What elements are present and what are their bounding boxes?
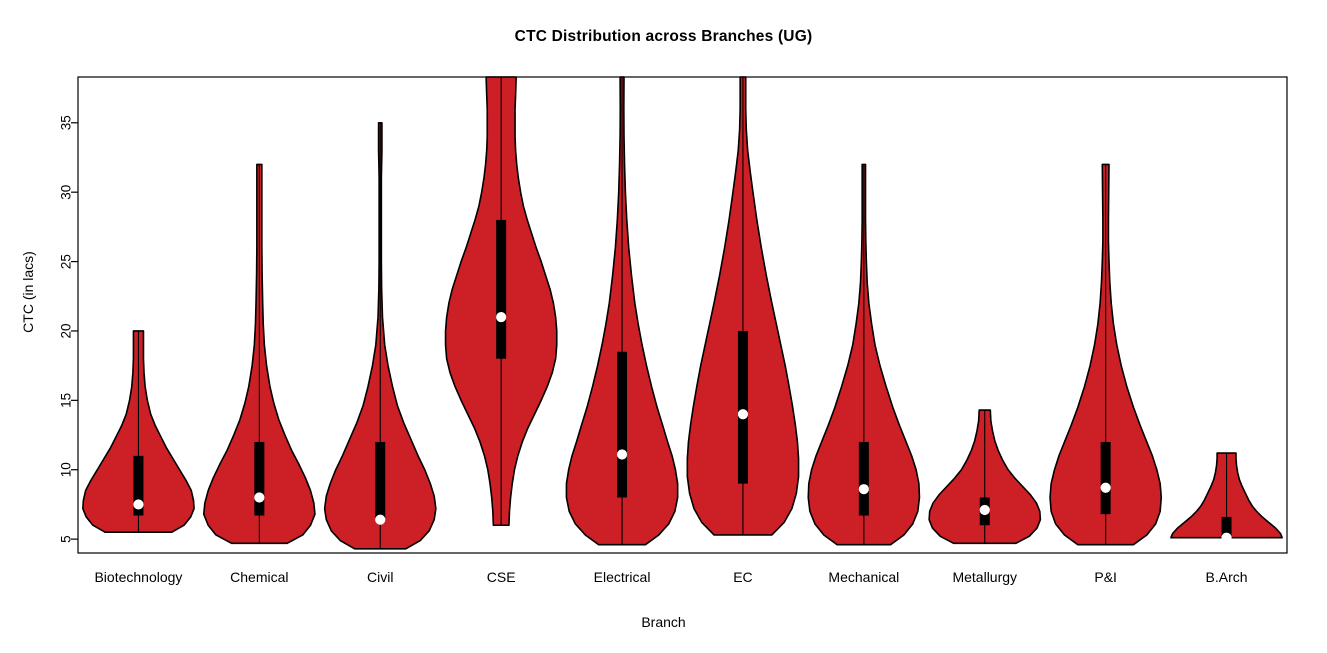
- violin-chart: CTC Distribution across Branches (UG) CT…: [0, 0, 1327, 653]
- violin-civil: [325, 123, 436, 549]
- x-tick-label-7: Mechanical: [828, 569, 899, 585]
- violin-ec: [687, 77, 798, 535]
- median-dot: [134, 500, 143, 509]
- violin-metallurgy: [929, 410, 1040, 543]
- x-tick-label-10: B.Arch: [1206, 569, 1248, 585]
- y-tick-label: 25: [59, 254, 74, 269]
- iqr-box: [617, 352, 627, 498]
- y-tick-label: 15: [59, 393, 74, 408]
- median-dot: [980, 505, 989, 514]
- median-dot: [255, 493, 264, 502]
- x-tick-label-1: Biotechnology: [94, 569, 182, 585]
- x-tick-label-3: Civil: [367, 569, 393, 585]
- x-tick-label-4: CSE: [487, 569, 516, 585]
- median-dot: [617, 450, 626, 459]
- y-tick-label: 20: [59, 323, 74, 338]
- iqr-box: [738, 331, 748, 484]
- median-dot: [738, 410, 747, 419]
- y-tick-label: 10: [59, 462, 74, 477]
- median-dot: [497, 312, 506, 321]
- x-tick-label-6: EC: [733, 569, 752, 585]
- iqr-box: [496, 220, 506, 359]
- violin-biotechnology: [83, 331, 194, 532]
- median-dot: [376, 515, 385, 524]
- median-dot: [859, 485, 868, 494]
- plot-area: 5101520253035BiotechnologyChemicalCivilC…: [0, 0, 1327, 653]
- median-dot: [1222, 533, 1231, 542]
- x-tick-label-9: P&I: [1094, 569, 1117, 585]
- y-tick-label: 5: [59, 535, 74, 543]
- violin-cse: [446, 77, 557, 525]
- violin-chemical: [204, 164, 315, 543]
- violin-electrical: [566, 77, 677, 545]
- median-dot: [1101, 483, 1110, 492]
- x-tick-label-2: Chemical: [230, 569, 288, 585]
- x-tick-label-8: Metallurgy: [952, 569, 1017, 585]
- iqr-box: [859, 442, 869, 516]
- violin-b-arch: [1171, 453, 1282, 542]
- y-tick-label: 30: [59, 185, 74, 200]
- y-tick-label: 35: [59, 115, 74, 130]
- violin-mechanical: [808, 164, 919, 544]
- violin-p-i: [1050, 164, 1161, 544]
- iqr-box: [375, 442, 385, 518]
- x-tick-label-5: Electrical: [594, 569, 651, 585]
- iqr-box: [254, 442, 264, 516]
- iqr-box: [1101, 442, 1111, 514]
